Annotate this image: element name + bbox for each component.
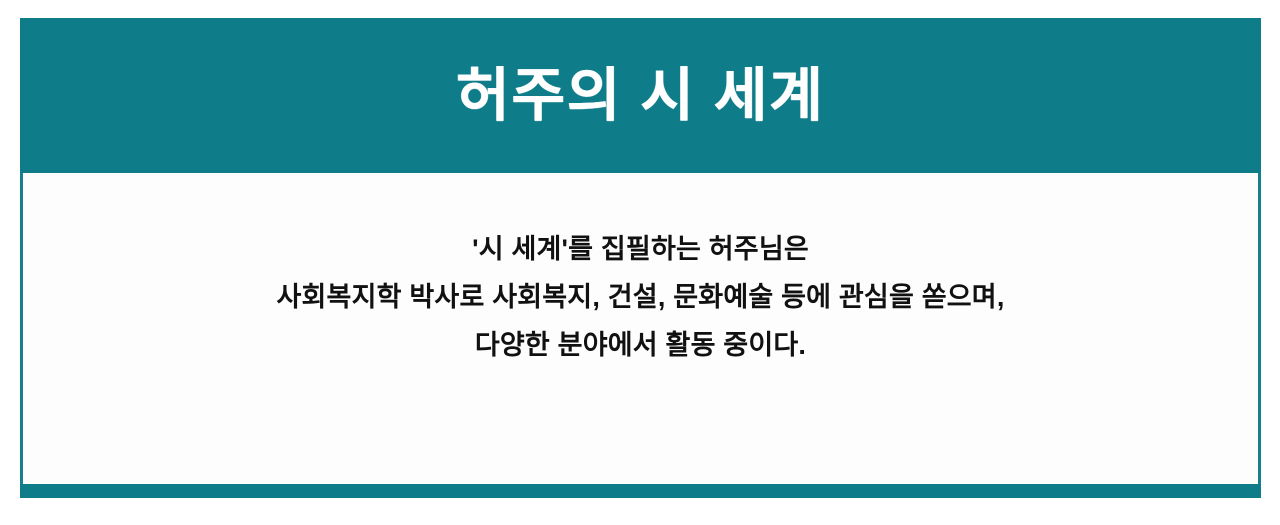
description-line-2: 사회복지학 박사로 사회복지, 건설, 문화예술 등에 관심을 쏟으며, (23, 273, 1258, 321)
description-line-3: 다양한 분야에서 활동 중이다. (23, 321, 1258, 369)
description-block: '시 세계'를 집필하는 허주님은 사회복지학 박사로 사회복지, 건설, 문화… (23, 225, 1258, 369)
page-title: 허주의 시 세계 (456, 67, 824, 125)
description-line-1: '시 세계'를 집필하는 허주님은 (23, 225, 1258, 273)
footer-bar (20, 484, 1261, 498)
body-panel: '시 세계'를 집필하는 허주님은 사회복지학 박사로 사회복지, 건설, 문화… (20, 173, 1261, 484)
header-band: 허주의 시 세계 (20, 18, 1261, 173)
profile-card: 허주의 시 세계 '시 세계'를 집필하는 허주님은 사회복지학 박사로 사회복… (20, 18, 1261, 498)
